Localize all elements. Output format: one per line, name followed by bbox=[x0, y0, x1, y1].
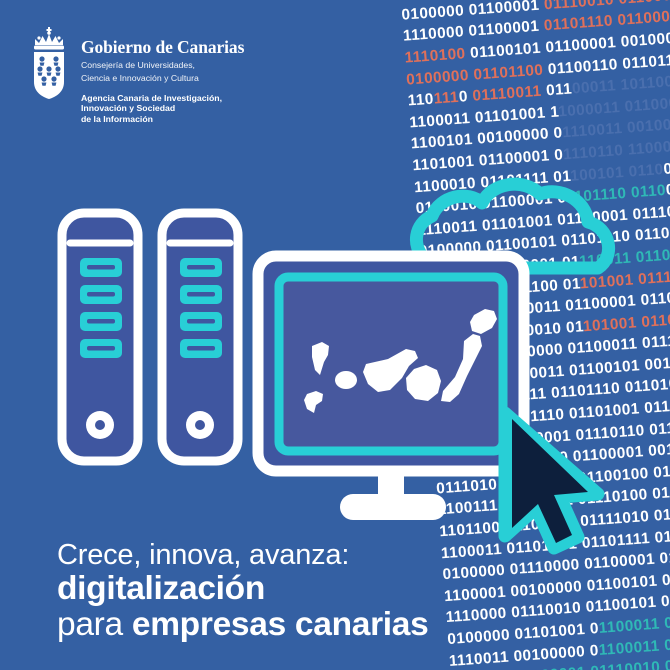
logo-agency-line-1: Agencia Canaria de Investigación, bbox=[81, 93, 244, 104]
logo-title: Gobierno de Canarias bbox=[81, 38, 244, 57]
server-2-power-button[interactable] bbox=[186, 411, 214, 439]
binary-code-backdrop: 01011100100111001100110011101101 0110111… bbox=[396, 0, 670, 670]
logo-department-line-2: Ciencia e Innovación y Cultura bbox=[81, 73, 244, 83]
monitor-stand bbox=[340, 462, 446, 520]
server-1-bays bbox=[80, 258, 122, 358]
logo-agency-line-3: de la Información bbox=[81, 114, 244, 125]
logo-text-group: Gobierno de Canarias Consejería de Unive… bbox=[81, 26, 244, 125]
headline-line-3-bold: empresas canarias bbox=[132, 606, 429, 643]
server-2-bays bbox=[180, 258, 222, 358]
logo-agency-line-2: Innovación y Sociedad bbox=[81, 103, 244, 114]
headline-line-3: para empresas canarias bbox=[57, 607, 428, 643]
gobierno-de-canarias-logo[interactable]: Gobierno de Canarias Consejería de Unive… bbox=[28, 26, 244, 125]
headline-line-1: Crece, innova, avanza: bbox=[57, 540, 428, 571]
headline: Crece, innova, avanza: digitalización pa… bbox=[57, 540, 428, 643]
poster-canvas: 01011100100111001100110011101101 0110111… bbox=[0, 0, 670, 670]
headline-line-2: digitalización bbox=[57, 571, 428, 607]
server-tower-1 bbox=[62, 213, 138, 461]
headline-line-3-light: para bbox=[57, 606, 132, 643]
server-tower-2 bbox=[162, 213, 238, 461]
escudo-canarias-icon bbox=[28, 26, 70, 100]
server-1-power-button[interactable] bbox=[86, 411, 114, 439]
logo-department-line-1: Consejería de Universidades, bbox=[81, 60, 244, 70]
